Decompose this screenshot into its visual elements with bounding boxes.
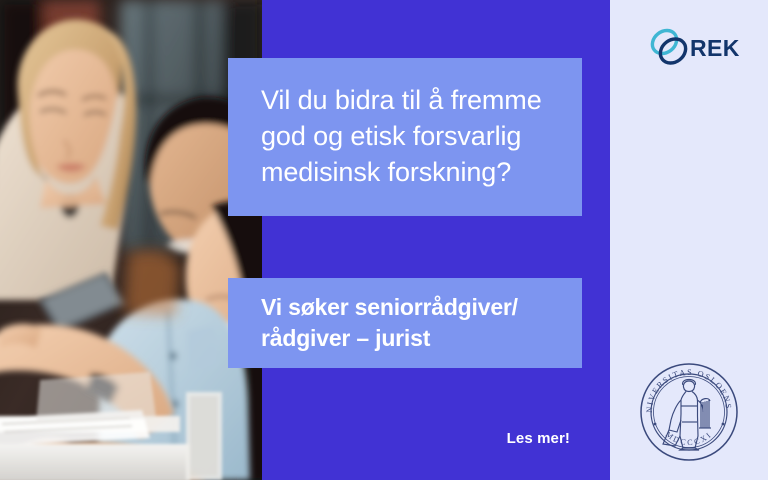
- headline-text: Vil du bidra til å fremme god og etisk f…: [228, 83, 582, 191]
- photo-illustration: [0, 0, 266, 480]
- rek-interlocking-rings-icon: REK: [648, 26, 740, 68]
- rek-logo[interactable]: REK: [648, 26, 740, 68]
- job-title-text: Vi søker seniorrådgiver/ rådgiver – juri…: [228, 292, 582, 354]
- read-more-link[interactable]: Les mer!: [420, 430, 570, 447]
- job-title-box: Vi søker seniorrådgiver/ rådgiver – juri…: [228, 278, 582, 368]
- team-collaboration-photo: [0, 0, 266, 480]
- uio-seal[interactable]: UNIVERSITAS OSLOENSIS MDCCCXI: [639, 362, 739, 462]
- seal-bottom-text: MDCCCXI: [664, 430, 714, 447]
- rek-wordmark: REK: [690, 35, 740, 61]
- recruitment-banner: Vil du bidra til å fremme god og etisk f…: [0, 0, 768, 480]
- uio-apollo-seal-icon: UNIVERSITAS OSLOENSIS MDCCCXI: [639, 362, 739, 462]
- headline-box: Vil du bidra til å fremme god og etisk f…: [228, 58, 582, 216]
